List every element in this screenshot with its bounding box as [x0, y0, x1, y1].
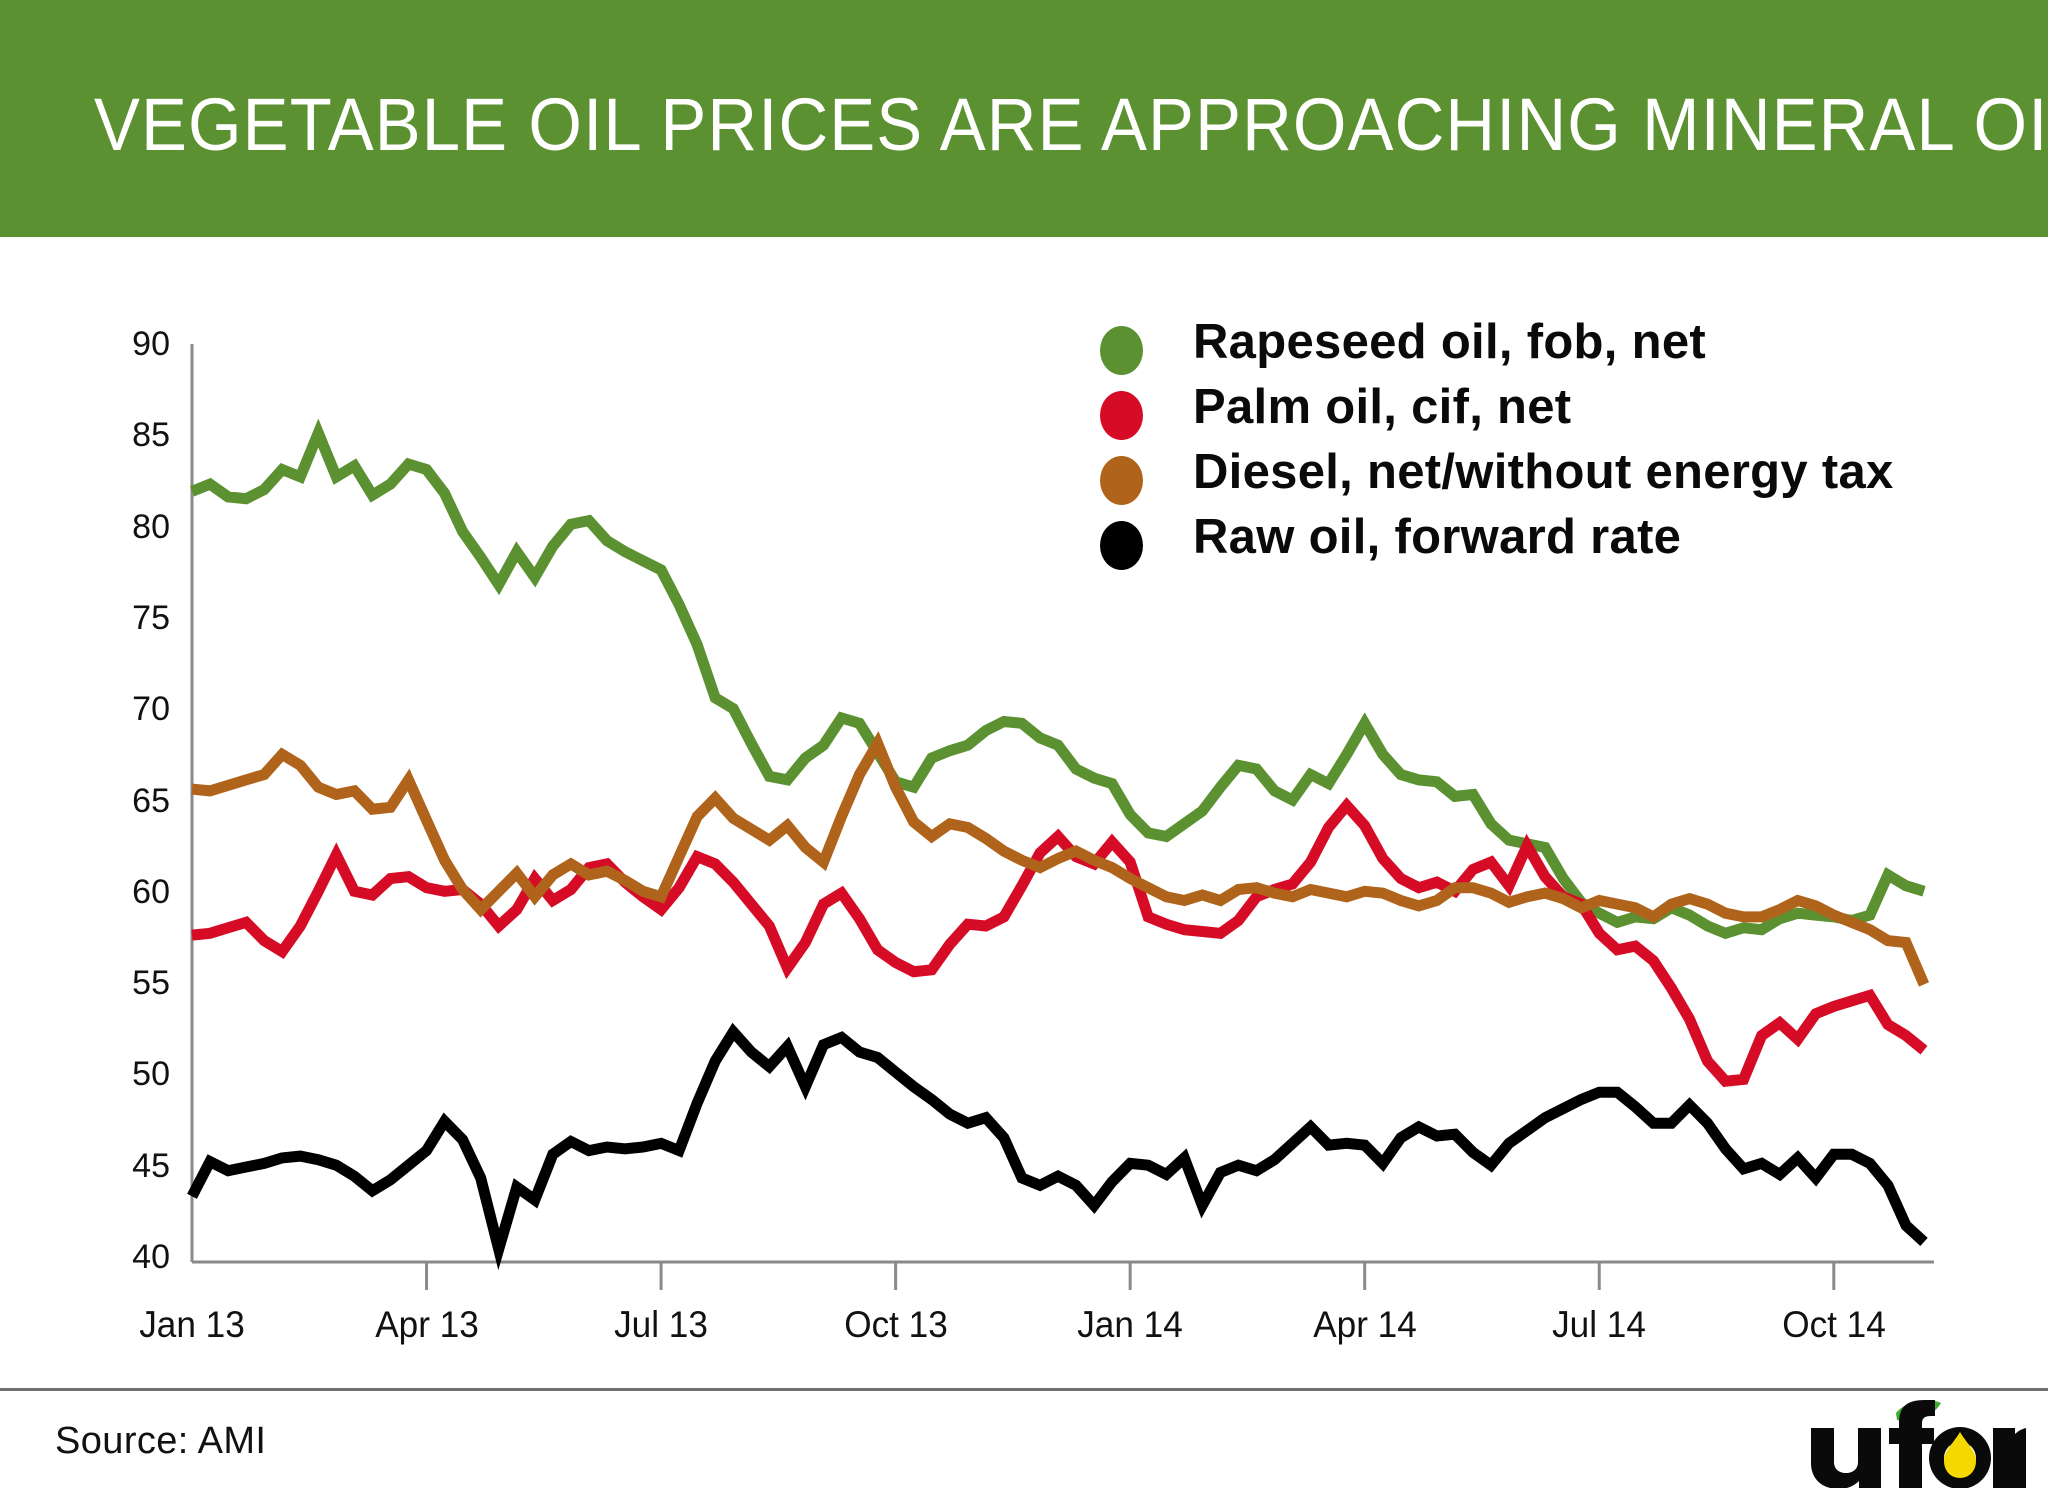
ufop-logo [1801, 1396, 2026, 1488]
x-axis-tick-label: Jan 14 [1021, 1304, 1240, 1346]
y-axis-tick-label: 85 [100, 416, 170, 455]
legend-item-label: Rapeseed oil, fob, net [1193, 314, 1706, 370]
logo-letter-f [1889, 1400, 1935, 1488]
legend-marker-1 [1100, 391, 1143, 440]
y-axis-tick-label: 40 [100, 1238, 170, 1277]
legend-marker-2 [1100, 456, 1143, 505]
x-axis-tick-label: Jul 13 [552, 1304, 771, 1346]
legend-item-label: Diesel, net/without energy tax [1193, 444, 1894, 500]
footer-divider [0, 1388, 2048, 1391]
page-title: VEGETABLE OIL PRICES ARE APPROACHING MIN… [94, 82, 2048, 167]
x-axis-tick-label: Oct 14 [1725, 1304, 1944, 1346]
y-axis-tick-label: 80 [100, 508, 170, 547]
chart-plot-area [0, 237, 2048, 1382]
y-axis-tick-label: 45 [100, 1147, 170, 1186]
y-axis-tick-label: 65 [100, 782, 170, 821]
y-axis-tick-label: 50 [100, 1055, 170, 1094]
header-band: VEGETABLE OIL PRICES ARE APPROACHING MIN… [0, 0, 2048, 237]
y-axis-tick-label: 90 [100, 325, 170, 364]
legend-item-label: Palm oil, cif, net [1193, 379, 1571, 435]
x-axis-tick-label: Jan 13 [83, 1304, 302, 1346]
y-axis-tick-label: 55 [100, 964, 170, 1003]
series-line-2 [192, 743, 1924, 984]
x-axis-tick-label: Jul 14 [1490, 1304, 1709, 1346]
source-label: Source: AMI [55, 1420, 266, 1463]
series-line-1 [192, 806, 1924, 1082]
logo-letter-u [1811, 1428, 1881, 1488]
legend-item-label: Raw oil, forward rate [1193, 509, 1681, 565]
line-chart-svg [0, 237, 2048, 1382]
y-axis-tick-label: 75 [100, 599, 170, 638]
ufop-logo-svg [1801, 1396, 2026, 1488]
y-axis-tick-label: 70 [100, 690, 170, 729]
y-axis-tick-label: 60 [100, 873, 170, 912]
legend-marker-0 [1100, 326, 1143, 375]
logo-letter-p-stem [1993, 1428, 2015, 1488]
infographic-root: VEGETABLE OIL PRICES ARE APPROACHING MIN… [0, 0, 2048, 1500]
series-line-3 [192, 1032, 1924, 1249]
legend-marker-3 [1100, 521, 1143, 570]
x-axis-tick-label: Apr 13 [318, 1304, 537, 1346]
x-axis-tick-label: Apr 14 [1256, 1304, 1475, 1346]
x-axis-tick-label: Oct 13 [787, 1304, 1006, 1346]
